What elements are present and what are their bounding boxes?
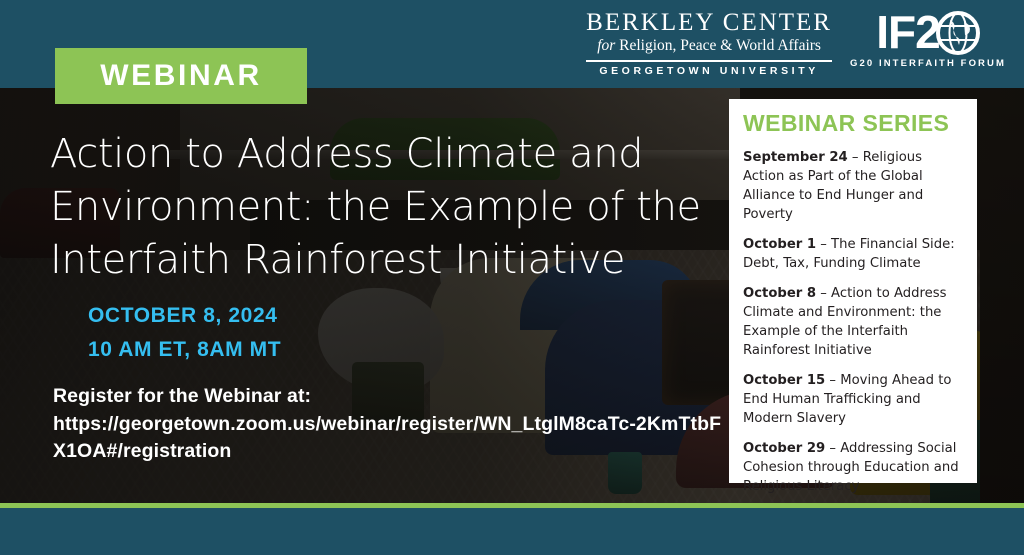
series-item-date: September 24 (743, 150, 848, 165)
footer-band (0, 508, 1024, 555)
list-item: October 29 – Addressing Social Cohesion … (743, 439, 961, 496)
list-item: September 24 – Religious Action as Part … (743, 148, 961, 224)
berkley-university-name: GEORGETOWN UNIVERSITY (586, 65, 832, 77)
series-item-date: October 1 (743, 237, 816, 252)
if20-logo: IF2 G20 INTERFAITH FORUM (850, 8, 1006, 69)
page-title: Action to Address Climate and Environmen… (50, 128, 710, 286)
list-item: October 1 – The Financial Side: Debt, Ta… (743, 235, 961, 273)
globe-icon (936, 11, 980, 55)
event-time: 10 AM ET, 8AM MT (88, 333, 281, 367)
list-item: October 8 – Action to Address Climate an… (743, 284, 961, 360)
webinar-poster: BERKLEY CENTER for Religion, Peace & Wor… (0, 0, 1024, 555)
registration-label: Register for the Webinar at: (53, 383, 733, 411)
berkley-center-logo: BERKLEY CENTER for Religion, Peace & Wor… (586, 8, 832, 77)
series-item-dash: – (816, 286, 831, 301)
event-date: OCTOBER 8, 2024 (88, 299, 281, 333)
series-item-dash: – (816, 237, 831, 252)
if20-wordmark-row: IF2 (876, 11, 979, 55)
webinar-series-list: September 24 – Religious Action as Part … (743, 148, 961, 496)
berkley-center-tagline: for Religion, Peace & World Affairs (586, 36, 832, 57)
berkley-tagline-text: Religion, Peace & World Affairs (619, 37, 821, 54)
series-item-dash: – (825, 373, 840, 388)
event-datetime: OCTOBER 8, 2024 10 AM ET, 8AM MT (88, 299, 281, 367)
webinar-series-heading: WEBINAR SERIES (743, 110, 961, 137)
webinar-series-panel: WEBINAR SERIES September 24 – Religious … (729, 99, 977, 483)
berkley-center-name: BERKLEY CENTER (586, 10, 832, 36)
registration-block: Register for the Webinar at: https://geo… (53, 383, 733, 466)
webinar-badge: WEBINAR (55, 48, 307, 104)
series-item-dash: – (825, 441, 840, 456)
list-item: October 15 – Moving Ahead to End Human T… (743, 371, 961, 428)
if20-wordmark: IF2 (876, 11, 939, 55)
series-item-date: October 15 (743, 373, 825, 388)
berkley-tagline-for: for (597, 37, 615, 54)
series-item-date: October 8 (743, 286, 816, 301)
registration-url[interactable]: https://georgetown.zoom.us/webinar/regis… (53, 411, 733, 466)
berkley-divider (586, 60, 832, 62)
logo-group: BERKLEY CENTER for Religion, Peace & Wor… (586, 8, 1006, 77)
series-item-dash: – (848, 150, 863, 165)
webinar-badge-label: WEBINAR (100, 59, 262, 93)
if20-subtitle: G20 INTERFAITH FORUM (850, 58, 1006, 69)
series-item-date: October 29 (743, 441, 825, 456)
